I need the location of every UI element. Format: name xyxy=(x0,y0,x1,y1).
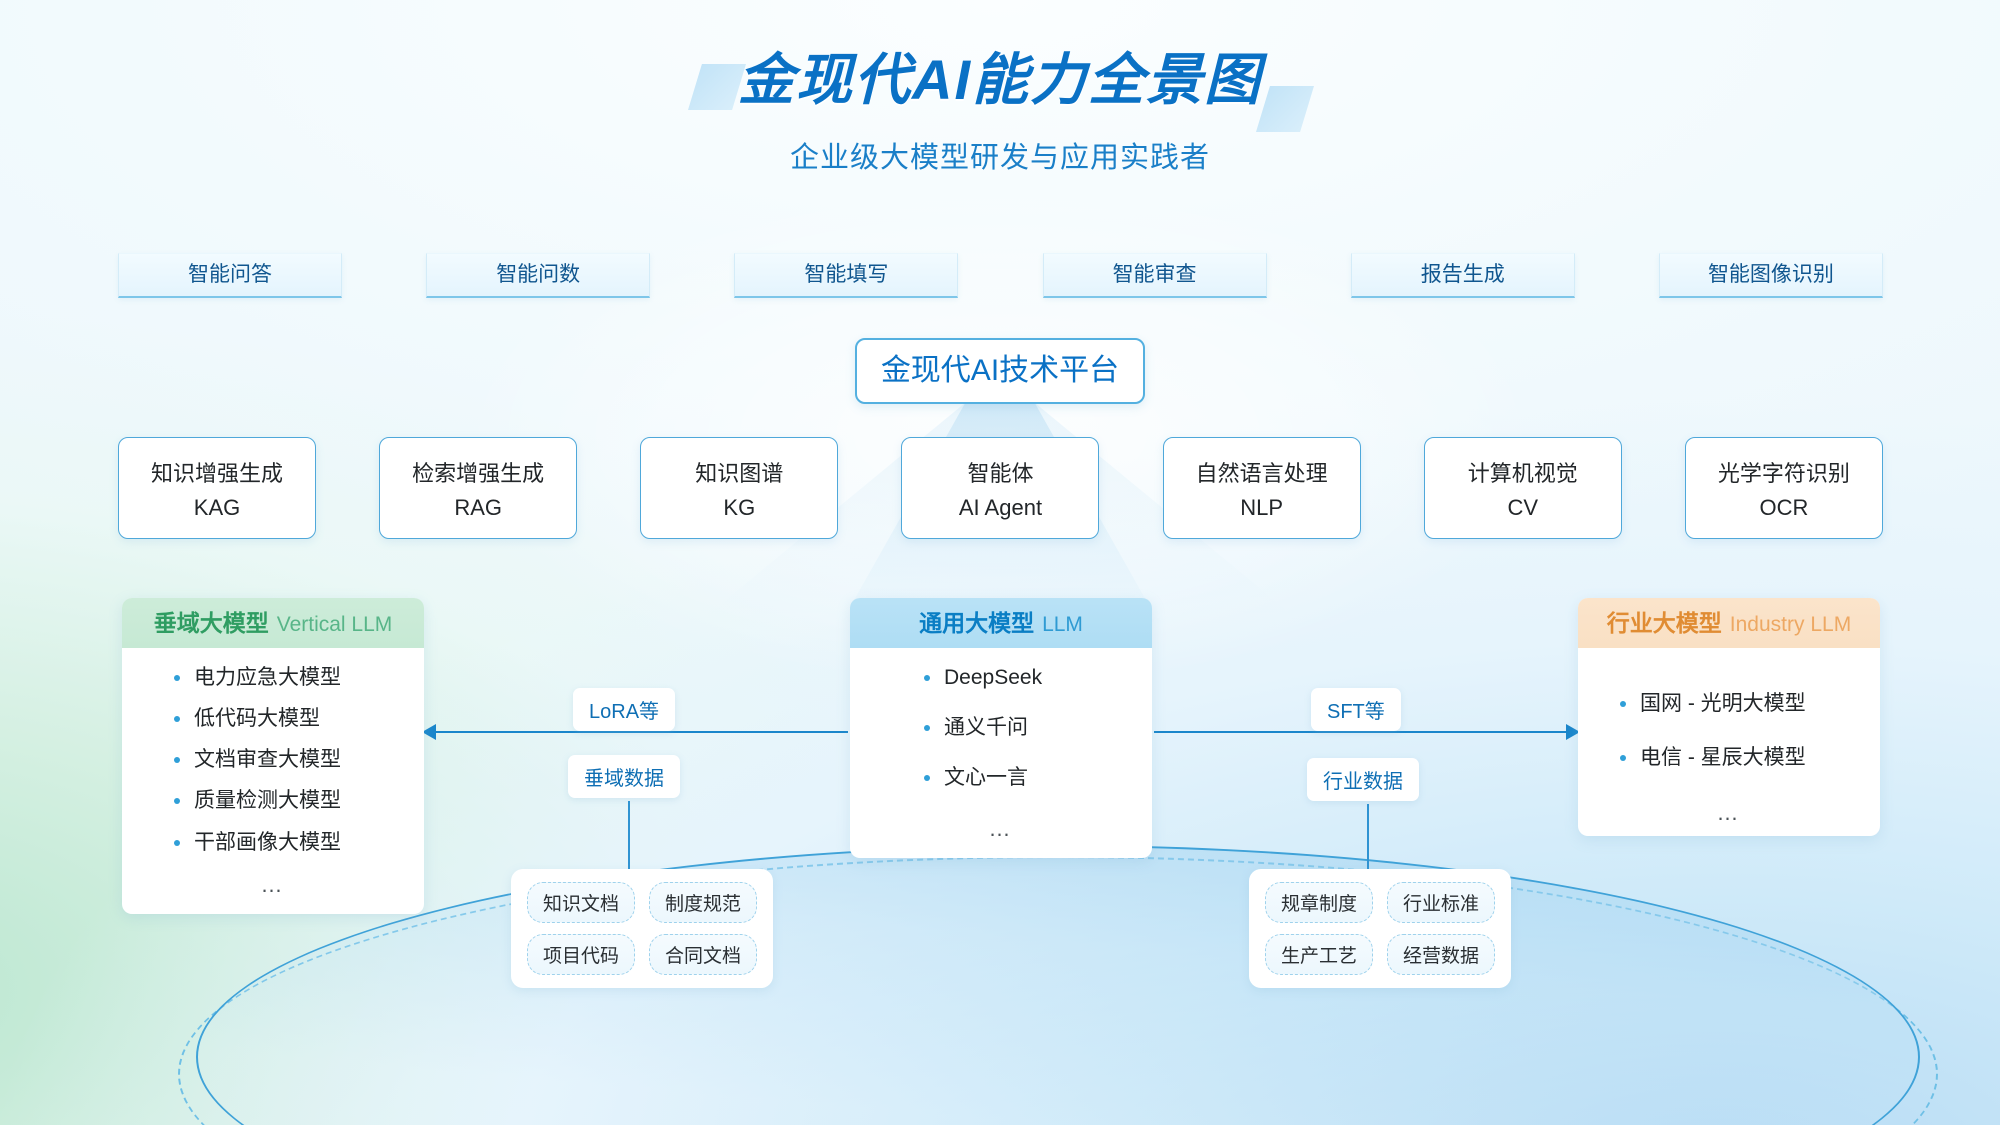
capability-label-cn: 光学字符识别 xyxy=(1718,456,1850,488)
connector-label-industry-data: 行业数据 xyxy=(1307,758,1419,801)
capability-card-row: 知识增强生成 KAG 检索增强生成 RAG 知识图谱 KG 智能体 AI Age… xyxy=(118,437,1883,539)
connector-line-right xyxy=(1154,731,1578,733)
scenario-tag-6[interactable]: 智能图像识别 xyxy=(1659,253,1883,298)
connector-label-vertical-data: 垂域数据 xyxy=(568,755,680,798)
capability-label-cn: 检索增强生成 xyxy=(412,456,544,488)
arrow-left-icon xyxy=(422,724,436,740)
panel-vertical-llm-body: 电力应急大模型 低代码大模型 文档审查大模型 质量检测大模型 干部画像大模型 … xyxy=(122,648,424,914)
list-item: 电力应急大模型 xyxy=(174,666,424,690)
panel-industry-llm-body: 国网 - 光明大模型 电信 - 星辰大模型 … xyxy=(1578,648,1880,836)
capability-label-en: OCR xyxy=(1759,495,1808,521)
scenario-tag-4[interactable]: 智能审查 xyxy=(1043,253,1267,298)
panel-vertical-llm[interactable]: 垂域大模型Vertical LLM 电力应急大模型 低代码大模型 文档审查大模型… xyxy=(122,598,424,914)
panel-title-en: Industry LLM xyxy=(1730,613,1851,636)
list-item: 通义千问 xyxy=(924,716,1152,740)
data-chip[interactable]: 行业标准 xyxy=(1387,882,1495,923)
capability-card-cv[interactable]: 计算机视觉 CV xyxy=(1424,437,1622,539)
capability-label-cn: 自然语言处理 xyxy=(1196,456,1328,488)
scenario-tag-2[interactable]: 智能问数 xyxy=(426,253,650,298)
scenario-tag-1[interactable]: 智能问答 xyxy=(118,253,342,298)
title-wrap: 金现代AI能力全景图 xyxy=(692,52,1308,108)
panel-industry-llm-header: 行业大模型Industry LLM xyxy=(1578,598,1880,648)
panel-vertical-llm-list: 电力应急大模型 低代码大模型 文档审查大模型 质量检测大模型 干部画像大模型 xyxy=(122,666,424,855)
capability-label-en: KG xyxy=(723,495,755,521)
capability-label-cn: 知识增强生成 xyxy=(151,456,283,488)
connector-label-lora: LoRA等 xyxy=(573,688,675,731)
list-item: 国网 - 光明大模型 xyxy=(1620,692,1880,716)
list-item: 质量检测大模型 xyxy=(174,789,424,813)
panel-title-en: Vertical LLM xyxy=(277,613,393,636)
panel-title-en: LLM xyxy=(1042,613,1083,636)
data-chip[interactable]: 规章制度 xyxy=(1265,882,1373,923)
panel-title-cn: 垂域大模型 xyxy=(154,610,269,636)
data-chip[interactable]: 知识文档 xyxy=(527,882,635,923)
panel-general-llm-header: 通用大模型LLM xyxy=(850,598,1152,648)
panel-ellipsis: … xyxy=(122,872,424,898)
capability-label-en: RAG xyxy=(454,495,502,521)
page-title: 金现代AI能力全景图 xyxy=(738,52,1262,108)
capability-label-en: AI Agent xyxy=(959,495,1042,521)
panel-title-cn: 通用大模型 xyxy=(919,610,1034,636)
panel-ellipsis: … xyxy=(1578,800,1880,826)
infographic-canvas: 金现代AI能力全景图 企业级大模型研发与应用实践者 智能问答 智能问数 智能填写… xyxy=(0,0,2000,1125)
title-decoration-right-icon xyxy=(1256,86,1314,132)
connector-label-sft: SFT等 xyxy=(1311,688,1401,731)
panel-general-llm-list: DeepSeek 通义千问 文心一言 xyxy=(850,666,1152,790)
list-item: 文心一言 xyxy=(924,766,1152,790)
capability-label-en: CV xyxy=(1508,495,1539,521)
connector-line-right-vertical xyxy=(1367,804,1369,870)
scenario-tag-3[interactable]: 智能填写 xyxy=(734,253,958,298)
list-item: 干部画像大模型 xyxy=(174,831,424,855)
page-subtitle: 企业级大模型研发与应用实践者 xyxy=(0,134,2000,176)
capability-label-en: KAG xyxy=(194,495,240,521)
capability-card-nlp[interactable]: 自然语言处理 NLP xyxy=(1163,437,1361,539)
scenario-tag-row: 智能问答 智能问数 智能填写 智能审查 报告生成 智能图像识别 xyxy=(118,253,1883,298)
capability-card-ocr[interactable]: 光学字符识别 OCR xyxy=(1685,437,1883,539)
capability-label-cn: 智能体 xyxy=(967,456,1033,488)
data-chip[interactable]: 生产工艺 xyxy=(1265,934,1373,975)
data-chip-group-vertical: 知识文档 制度规范 项目代码 合同文档 xyxy=(511,869,773,988)
data-chip[interactable]: 合同文档 xyxy=(649,934,757,975)
capability-label-en: NLP xyxy=(1240,495,1283,521)
data-chip[interactable]: 项目代码 xyxy=(527,934,635,975)
panel-vertical-llm-header: 垂域大模型Vertical LLM xyxy=(122,598,424,648)
connector-line-left xyxy=(428,731,848,733)
capability-label-cn: 知识图谱 xyxy=(695,456,783,488)
platform-box[interactable]: 金现代AI技术平台 xyxy=(855,338,1145,404)
data-chip[interactable]: 经营数据 xyxy=(1387,934,1495,975)
panel-industry-llm-list: 国网 - 光明大模型 电信 - 星辰大模型 xyxy=(1578,692,1880,770)
capability-card-kag[interactable]: 知识增强生成 KAG xyxy=(118,437,316,539)
header: 金现代AI能力全景图 企业级大模型研发与应用实践者 xyxy=(0,52,2000,176)
capability-card-ai-agent[interactable]: 智能体 AI Agent xyxy=(901,437,1099,539)
capability-card-kg[interactable]: 知识图谱 KG xyxy=(640,437,838,539)
scenario-tag-5[interactable]: 报告生成 xyxy=(1351,253,1575,298)
panel-ellipsis: … xyxy=(850,816,1152,842)
capability-card-rag[interactable]: 检索增强生成 RAG xyxy=(379,437,577,539)
panel-general-llm[interactable]: 通用大模型LLM DeepSeek 通义千问 文心一言 … xyxy=(850,598,1152,858)
list-item: 低代码大模型 xyxy=(174,707,424,731)
panel-general-llm-body: DeepSeek 通义千问 文心一言 … xyxy=(850,648,1152,858)
panel-title-cn: 行业大模型 xyxy=(1607,610,1722,636)
list-item: 文档审查大模型 xyxy=(174,748,424,772)
list-item: 电信 - 星辰大模型 xyxy=(1620,746,1880,770)
list-item: DeepSeek xyxy=(924,666,1152,690)
panel-industry-llm[interactable]: 行业大模型Industry LLM 国网 - 光明大模型 电信 - 星辰大模型 … xyxy=(1578,598,1880,836)
data-chip-group-industry: 规章制度 行业标准 生产工艺 经营数据 xyxy=(1249,869,1511,988)
connector-line-left-vertical xyxy=(628,801,630,869)
data-chip[interactable]: 制度规范 xyxy=(649,882,757,923)
capability-label-cn: 计算机视觉 xyxy=(1468,456,1578,488)
